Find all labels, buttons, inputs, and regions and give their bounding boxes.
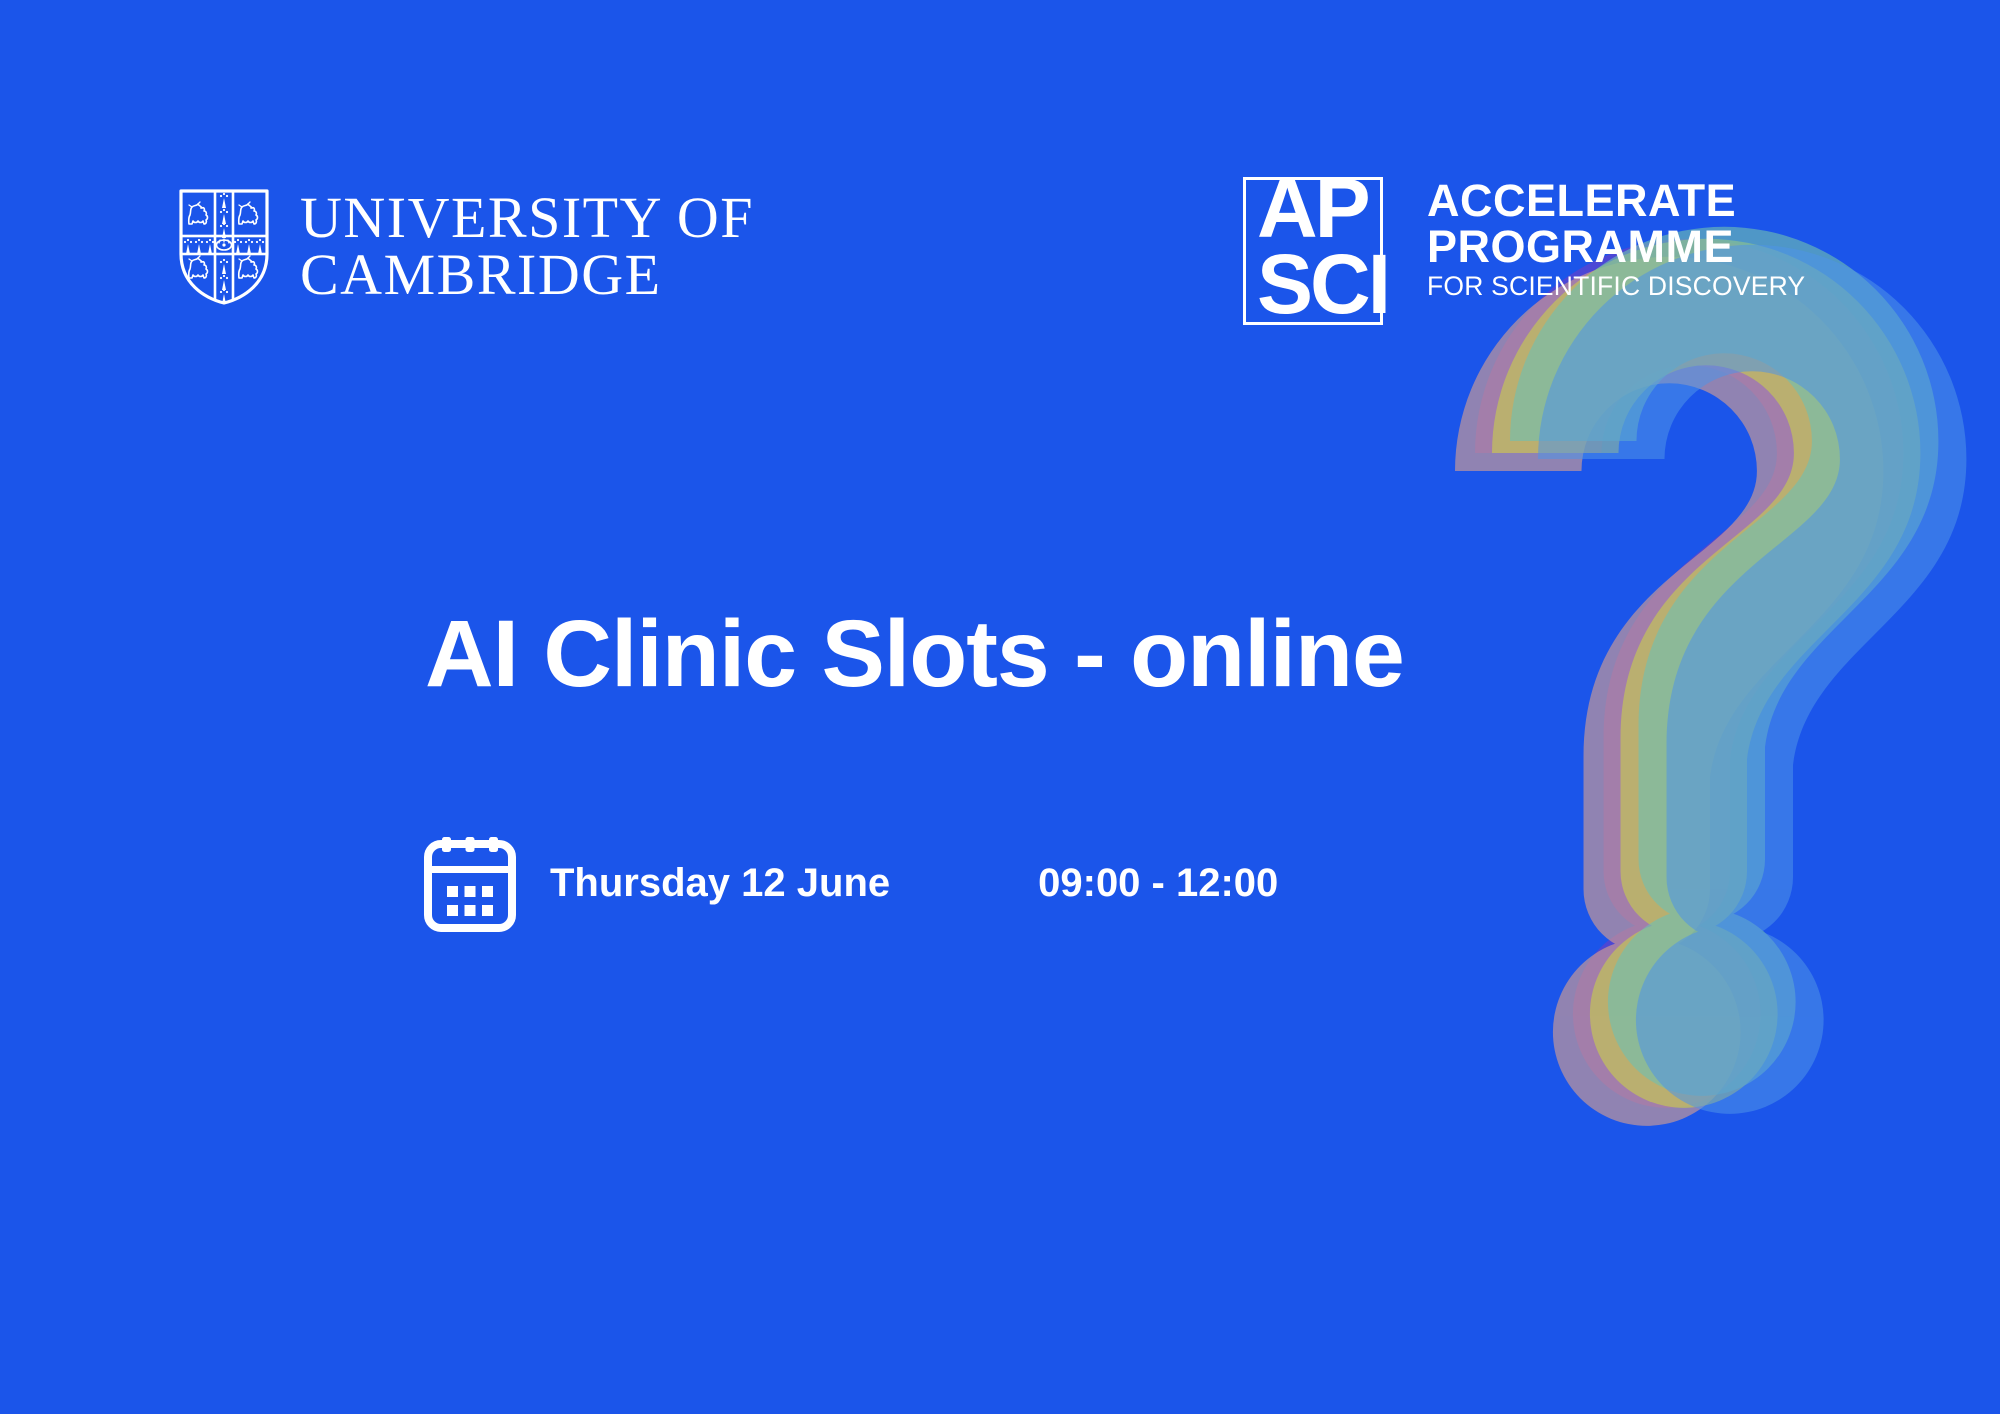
cambridge-logo: UNIVERSITY OF CAMBRIDGE — [178, 188, 754, 306]
apsci-monogram-line-1: AP — [1257, 170, 1388, 246]
apsci-logo: AP SCI ACCELERATE PROGRAMME FOR SCIENTIF… — [1243, 170, 1805, 328]
apsci-wordmark: ACCELERATE PROGRAMME FOR SCIENTIFIC DISC… — [1427, 178, 1805, 302]
cambridge-wordmark-line-2: CAMBRIDGE — [300, 247, 754, 304]
event-time: 09:00 - 12:00 — [1038, 861, 1278, 906]
event-poster: UNIVERSITY OF CAMBRIDGE AP SCI ACCELERAT… — [0, 0, 2000, 1414]
apsci-wordmark-tagline: FOR SCIENTIFIC DISCOVERY — [1427, 270, 1805, 302]
calendar-icon — [420, 833, 520, 933]
event-date: Thursday 12 June — [550, 861, 890, 906]
apsci-monogram-icon: AP SCI — [1243, 170, 1389, 328]
apsci-monogram-line-2: SCI — [1257, 246, 1388, 322]
cambridge-crest-icon — [178, 188, 270, 306]
cambridge-wordmark-line-1: UNIVERSITY OF — [300, 190, 754, 247]
event-details-row: Thursday 12 June 09:00 - 12:00 — [420, 833, 1278, 933]
apsci-wordmark-line-1: ACCELERATE — [1427, 178, 1805, 224]
event-title: AI Clinic Slots - online — [425, 600, 1404, 709]
apsci-monogram-letters: AP SCI — [1257, 170, 1388, 322]
apsci-wordmark-line-2: PROGRAMME — [1427, 224, 1805, 270]
cambridge-wordmark: UNIVERSITY OF CAMBRIDGE — [300, 190, 754, 304]
